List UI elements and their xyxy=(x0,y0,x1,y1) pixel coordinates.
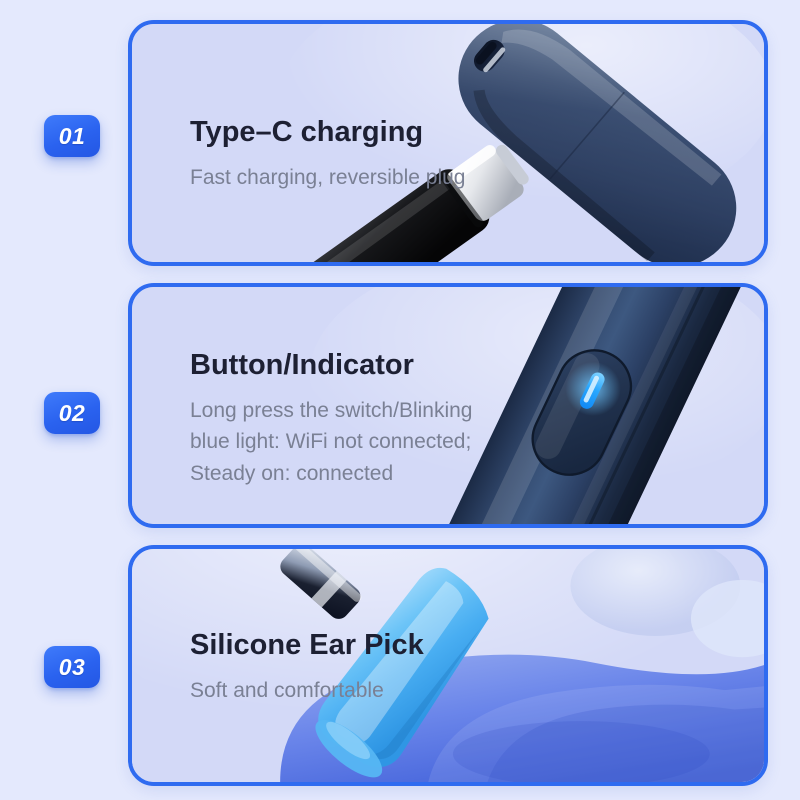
feature-card-2-title: Button/Indicator xyxy=(190,349,473,382)
feature-card-2-text-block: Button/Indicator Long press the switch/B… xyxy=(190,349,473,489)
feature-card-button-indicator: Button/Indicator Long press the switch/B… xyxy=(128,283,768,528)
feature-card-1-description: Fast charging, reversible plug xyxy=(190,162,465,193)
step-badge-01-label: 01 xyxy=(59,125,86,148)
feature-card-silicone-ear-pick: Silicone Ear Pick Soft and comfortable xyxy=(128,545,768,786)
feature-card-1-title: Type–C charging xyxy=(190,116,465,149)
step-badge-03: 03 xyxy=(44,646,100,688)
feature-card-1-text-block: Type–C charging Fast charging, reversibl… xyxy=(190,116,465,193)
infographic-stage: 01 xyxy=(0,0,800,800)
feature-card-2-description: Long press the switch/Blinking blue ligh… xyxy=(190,395,473,488)
feature-card-3-description: Soft and comfortable xyxy=(190,675,424,706)
step-badge-02: 02 xyxy=(44,392,100,434)
feature-card-3-text-block: Silicone Ear Pick Soft and comfortable xyxy=(190,629,424,706)
feature-card-3-title: Silicone Ear Pick xyxy=(190,629,424,662)
feature-card-type-c-charging: Type–C charging Fast charging, reversibl… xyxy=(128,20,768,266)
step-badge-03-label: 03 xyxy=(59,656,86,679)
step-badge-01: 01 xyxy=(44,115,100,157)
step-badge-02-label: 02 xyxy=(59,402,86,425)
